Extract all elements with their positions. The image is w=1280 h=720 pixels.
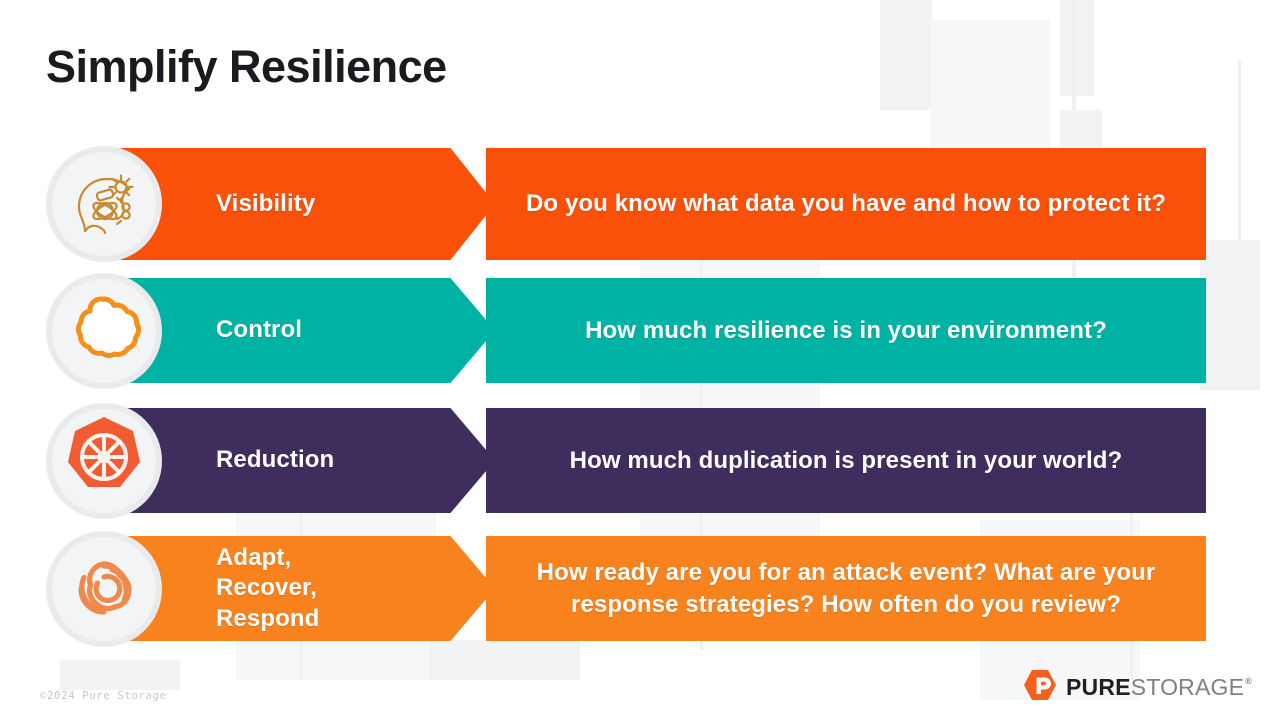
pillar-question-control: How much resilience is in your environme… [585, 315, 1107, 346]
pillar-panel-adapt-recover-respond: How ready are you for an attack event? W… [486, 536, 1206, 641]
pillar-question-reduction: How much duplication is present in your … [570, 445, 1123, 476]
pillar-row-reduction: Reduction How much duplication is presen… [46, 408, 1206, 513]
wordmark-storage: STORAGE [1131, 676, 1244, 699]
page-title: Simplify Resilience [46, 42, 447, 92]
cloud-icon [46, 273, 162, 389]
pillar-question-adapt-recover-respond: How ready are you for an attack event? W… [504, 557, 1188, 619]
pure-storage-logo: PURESTORAGE® [1023, 669, 1252, 706]
pillar-panel-reduction: How much duplication is present in your … [486, 408, 1206, 513]
pillar-arrow-reduction[interactable]: Reduction [108, 408, 495, 513]
pillar-panel-control: How much resilience is in your environme… [486, 278, 1206, 383]
pillar-label-visibility: Visibility [216, 189, 315, 219]
wordmark-pure: PURE [1066, 676, 1131, 699]
pure-storage-mark-icon [1023, 669, 1057, 706]
pillar-row-control: Control How much resilience is in your e… [46, 278, 1206, 383]
copyright-text: ©2024 Pure Storage [40, 689, 166, 702]
slide-canvas: Simplify Resilience Visibility [0, 0, 1280, 720]
pillar-row-visibility: Visibility [46, 148, 1206, 260]
pillar-question-visibility: Do you know what data you have and how t… [526, 188, 1166, 219]
brain-profile-icon [46, 146, 162, 262]
kubernetes-helm-icon [46, 403, 162, 519]
pillar-panel-visibility: Do you know what data you have and how t… [486, 148, 1206, 260]
pillar-row-adapt-recover-respond: Adapt, Recover, Respond [46, 536, 1206, 641]
openai-knot-icon [46, 531, 162, 647]
registered-mark: ® [1245, 677, 1252, 686]
pure-storage-wordmark: PURESTORAGE® [1066, 676, 1252, 699]
pillar-arrow-adapt-recover-respond[interactable]: Adapt, Recover, Respond [108, 536, 495, 641]
pillar-arrow-visibility[interactable]: Visibility [108, 148, 495, 260]
pillar-label-control: Control [216, 315, 302, 345]
pillar-label-reduction: Reduction [216, 445, 334, 475]
pillar-arrow-control[interactable]: Control [108, 278, 495, 383]
pillar-label-adapt-recover-respond: Adapt, Recover, Respond [216, 543, 319, 634]
